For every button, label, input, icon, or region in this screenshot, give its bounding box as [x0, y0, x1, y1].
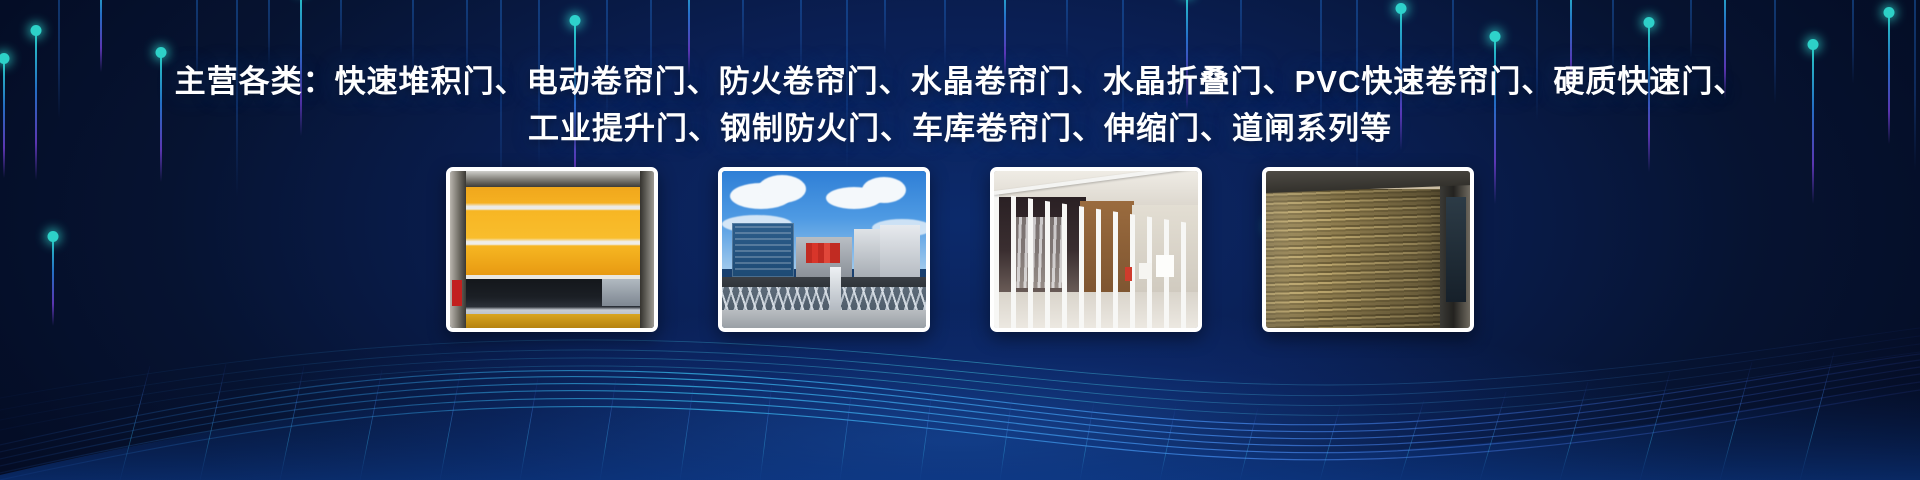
product-photo-strip: 黄色快速堆积门 电动伸缩门 室外 水晶折叠门 室内 — [0, 167, 1920, 332]
spark-line — [944, 0, 946, 66]
spark-line — [1240, 0, 1242, 64]
wave-fill — [0, 382, 1920, 480]
photo-content — [994, 171, 1198, 328]
wave-lines-front — [0, 354, 1920, 480]
bottom-glow — [210, 310, 1710, 480]
headline-block: 主营各类：快速堆积门、电动卷帘门、防火卷帘门、水晶卷帘门、水晶折叠门、PVC快速… — [0, 58, 1920, 152]
spark-line — [1690, 0, 1692, 58]
product-photo-crystal-folding-door[interactable]: 水晶折叠门 室内 — [990, 167, 1202, 332]
wave-lines-back — [0, 328, 1920, 430]
spark-line — [1066, 0, 1068, 58]
photo-content — [1266, 171, 1470, 328]
spark-line — [742, 0, 744, 62]
product-photo-fast-stacking-door[interactable]: 黄色快速堆积门 — [446, 167, 658, 332]
product-photo-bronze-roller-shutter[interactable]: 古铜色卷帘门 — [1262, 167, 1474, 332]
product-photo-retractable-gate[interactable]: 电动伸缩门 室外 — [718, 167, 930, 332]
headline-line-1: 主营各类：快速堆积门、电动卷帘门、防火卷帘门、水晶卷帘门、水晶折叠门、PVC快速… — [0, 58, 1920, 105]
photo-content — [722, 171, 926, 328]
wave-cross-hatch — [120, 352, 1834, 480]
photo-content — [450, 171, 654, 328]
spark-line — [884, 0, 886, 54]
spark-line — [268, 0, 270, 66]
spark-line — [340, 0, 342, 54]
headline-line-2: 工业提升门、钢制防火门、车库卷帘门、伸缩门、道闸系列等 — [0, 105, 1920, 152]
promo-banner: 主营各类：快速堆积门、电动卷帘门、防火卷帘门、水晶卷帘门、水晶折叠门、PVC快速… — [0, 0, 1920, 480]
